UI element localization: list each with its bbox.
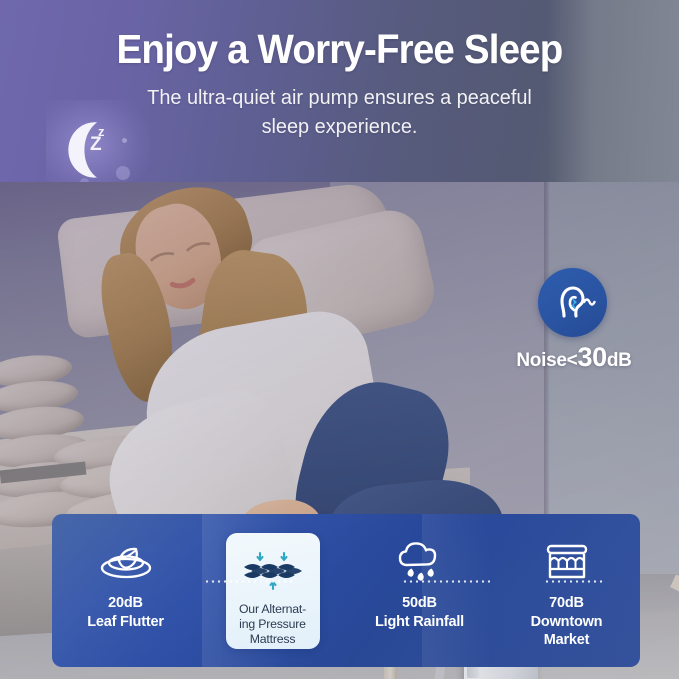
comparison-item-leaf-flutter[interactable]: 20dB Leaf Flutter (52, 514, 199, 667)
comparison-items: 20dB Leaf Flutter Our Alter (52, 514, 640, 667)
connector-dotted-1 (204, 580, 292, 583)
noise-value: 30 (577, 342, 606, 372)
sparkle-dot-2 (116, 166, 130, 180)
item-name-line-2: Market (531, 631, 603, 650)
noise-comparison-bar: 20dB Leaf Flutter Our Alter (52, 514, 640, 667)
alternating-pressure-mattress-icon (238, 547, 308, 595)
item-name: Leaf Flutter (87, 613, 164, 632)
crescent-moon-zzz-icon: z Z (60, 112, 138, 182)
leaf-flutter-icon (98, 536, 154, 588)
svg-text:Z: Z (90, 134, 102, 155)
noise-prefix: Noise< (516, 350, 577, 371)
comparison-item-downtown-market[interactable]: 70dB Downtown Market (493, 514, 640, 667)
product-feature-image: Enjoy a Worry-Free Sleep The ultra-quiet… (0, 0, 679, 679)
card-name-line-2: ing Pressure (239, 617, 306, 632)
noise-level-label: Noise<30dB (510, 342, 638, 373)
connector-dotted-2 (402, 580, 490, 583)
comparison-item-light-rainfall[interactable]: 50dB Light Rainfall (346, 514, 493, 667)
comparison-item-our-mattress[interactable]: Our Alternat- ing Pressure Mattress (199, 514, 346, 667)
item-caption: 50dB Light Rainfall (375, 594, 464, 631)
card-caption: Our Alternat- ing Pressure Mattress (239, 602, 306, 648)
ear-sound-wave-icon (538, 268, 607, 337)
highlight-card[interactable]: Our Alternat- ing Pressure Mattress (226, 533, 320, 649)
item-name: Light Rainfall (375, 613, 464, 632)
card-name-line-1: Our Alternat- (239, 602, 306, 617)
item-db: 70dB (531, 594, 603, 613)
sparkle-dot-1 (122, 138, 127, 143)
noise-badge: Noise<30dB (510, 268, 638, 378)
connector-dotted-3 (544, 580, 606, 583)
item-caption: 20dB Leaf Flutter (87, 594, 164, 631)
card-name-line-3: Mattress (239, 632, 306, 647)
item-name-line-1: Downtown (531, 613, 603, 632)
page-title: Enjoy a Worry-Free Sleep (20, 27, 658, 71)
item-db: 20dB (87, 594, 164, 613)
item-caption: 70dB Downtown Market (531, 594, 603, 650)
noise-unit: dB (607, 350, 632, 371)
item-db: 50dB (375, 594, 464, 613)
banner-header: Enjoy a Worry-Free Sleep The ultra-quiet… (0, 0, 679, 182)
